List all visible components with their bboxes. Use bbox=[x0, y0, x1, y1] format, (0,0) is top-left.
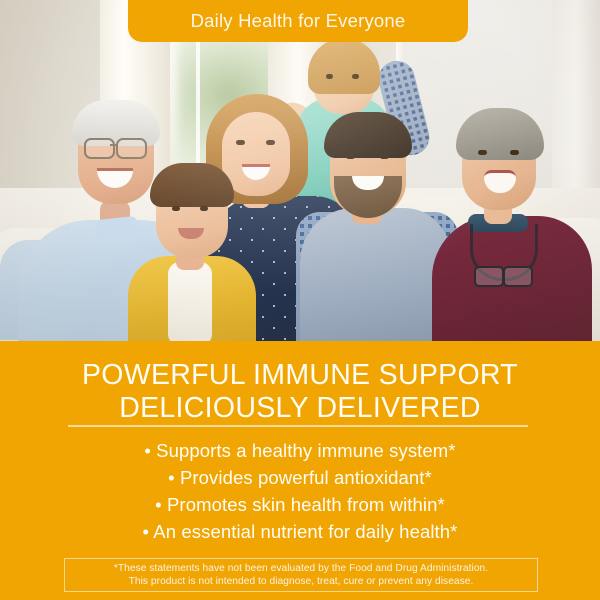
list-item: • An essential nutrient for daily health… bbox=[0, 518, 600, 545]
top-banner: Daily Health for Everyone bbox=[128, 0, 468, 42]
boy-hair bbox=[150, 163, 234, 207]
list-item: • Supports a healthy immune system* bbox=[0, 437, 600, 464]
mother-head bbox=[222, 112, 290, 196]
grandfather-glasses-bridge bbox=[110, 144, 118, 146]
grandmother-glasses-right-lens bbox=[503, 266, 533, 287]
boy-eye-left bbox=[172, 206, 180, 211]
father-eye-left bbox=[346, 154, 355, 159]
grandmother-glasses-left-lens bbox=[474, 266, 504, 287]
list-item: • Provides powerful antioxidant* bbox=[0, 464, 600, 491]
girl-eye-left bbox=[326, 74, 333, 79]
boy-eye-right bbox=[200, 206, 208, 211]
father-eye-right bbox=[380, 154, 389, 159]
father-tshirt bbox=[300, 208, 450, 341]
mother-eye-left bbox=[236, 140, 245, 145]
disclaimer-line-1: *These statements have not been evaluate… bbox=[114, 562, 488, 576]
headline-divider bbox=[68, 425, 528, 427]
grandfather-glasses-right-lens bbox=[116, 138, 147, 159]
mother-eye-right bbox=[266, 140, 275, 145]
grandfather-glasses-left-lens bbox=[84, 138, 115, 159]
boy-tshirt bbox=[168, 262, 212, 341]
offer-panel: POWERFUL IMMUNE SUPPORT DELICIOUSLY DELI… bbox=[0, 341, 600, 600]
list-item: • Promotes skin health from within* bbox=[0, 491, 600, 518]
disclaimer-line-2: This product is not intended to diagnose… bbox=[129, 575, 474, 589]
grandfather-collar bbox=[95, 216, 139, 246]
fda-disclaimer: *These statements have not been evaluate… bbox=[64, 558, 538, 592]
top-banner-text: Daily Health for Everyone bbox=[191, 10, 406, 32]
girl-eye-right bbox=[352, 74, 359, 79]
father-hair bbox=[324, 112, 412, 158]
benefit-list: • Supports a healthy immune system* • Pr… bbox=[0, 437, 600, 545]
headline-line-1: POWERFUL IMMUNE SUPPORT bbox=[0, 359, 600, 392]
page-title: POWERFUL IMMUNE SUPPORT DELICIOUSLY DELI… bbox=[0, 341, 600, 425]
headline-line-2: DELICIOUSLY DELIVERED bbox=[0, 392, 600, 425]
advertisement-root: Daily Health for Everyone POWERFUL IMMUN… bbox=[0, 0, 600, 600]
grandmother-eye-left bbox=[478, 150, 487, 155]
family-photo bbox=[0, 0, 600, 341]
grandmother-eye-right bbox=[510, 150, 519, 155]
